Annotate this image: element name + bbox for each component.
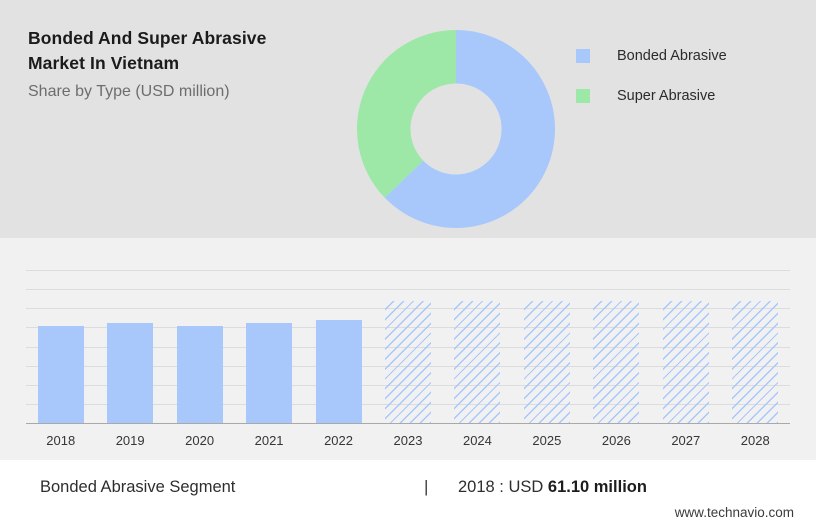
- x-axis-labels: 2018201920202021202220232024202520262027…: [26, 433, 790, 453]
- header-band: Bonded And Super Abrasive Market In Viet…: [0, 0, 816, 238]
- legend-label-super-abrasive: Super Abrasive: [617, 88, 715, 104]
- footer-segment-label: Bonded Abrasive Segment: [40, 478, 235, 497]
- x-axis-label-2022: 2022: [304, 433, 373, 448]
- legend-item-bonded-abrasive[interactable]: Bonded Abrasive: [576, 36, 806, 76]
- bars-group: [26, 270, 790, 423]
- bar-2026[interactable]: [593, 301, 639, 423]
- page-title-line-2: Market In Vietnam: [28, 51, 358, 76]
- donut-chart-svg: [356, 29, 556, 229]
- x-axis-label-2023: 2023: [373, 433, 442, 448]
- bar-2025[interactable]: [524, 301, 570, 423]
- x-axis-label-2026: 2026: [582, 433, 651, 448]
- x-axis-label-2018: 2018: [26, 433, 95, 448]
- bar-chart-panel: 2018201920202021202220232024202520262027…: [0, 238, 816, 460]
- bar-2020[interactable]: [177, 326, 223, 423]
- legend-swatch-bonded-abrasive-icon: [576, 49, 590, 63]
- donut-chart: [356, 29, 556, 229]
- page-subtitle: Share by Type (USD million): [28, 82, 358, 102]
- title-block: Bonded And Super Abrasive Market In Viet…: [28, 26, 358, 102]
- x-axis-line: [26, 423, 790, 424]
- legend-label-bonded-abrasive: Bonded Abrasive: [617, 48, 727, 64]
- bar-2021[interactable]: [246, 323, 292, 423]
- site-url: www.technavio.com: [675, 505, 794, 520]
- bar-2027[interactable]: [663, 301, 709, 423]
- bar-2028[interactable]: [732, 301, 778, 423]
- bar-2019[interactable]: [107, 323, 153, 423]
- x-axis-label-2025: 2025: [512, 433, 581, 448]
- legend: Bonded Abrasive Super Abrasive: [576, 36, 806, 116]
- bar-2024[interactable]: [454, 301, 500, 423]
- x-axis-label-2021: 2021: [234, 433, 303, 448]
- infographic-canvas: Bonded And Super Abrasive Market In Viet…: [0, 0, 816, 528]
- bar-2023[interactable]: [385, 301, 431, 423]
- footer-value-prefix: 2018 : USD: [458, 478, 548, 496]
- x-axis-label-2027: 2027: [651, 433, 720, 448]
- legend-item-super-abrasive[interactable]: Super Abrasive: [576, 76, 806, 116]
- x-axis-label-2028: 2028: [721, 433, 790, 448]
- x-axis-label-2019: 2019: [95, 433, 164, 448]
- bar-chart-plot-area: [26, 270, 790, 423]
- footer-value: 2018 : USD 61.10 million: [458, 478, 647, 497]
- legend-swatch-super-abrasive-icon: [576, 89, 590, 103]
- footer-divider: |: [424, 477, 428, 497]
- footer-value-amount: 61.10 million: [548, 478, 647, 496]
- x-axis-label-2020: 2020: [165, 433, 234, 448]
- x-axis-label-2024: 2024: [443, 433, 512, 448]
- bar-2022[interactable]: [316, 320, 362, 423]
- bar-2018[interactable]: [38, 326, 84, 423]
- page-title-line-1: Bonded And Super Abrasive: [28, 26, 358, 51]
